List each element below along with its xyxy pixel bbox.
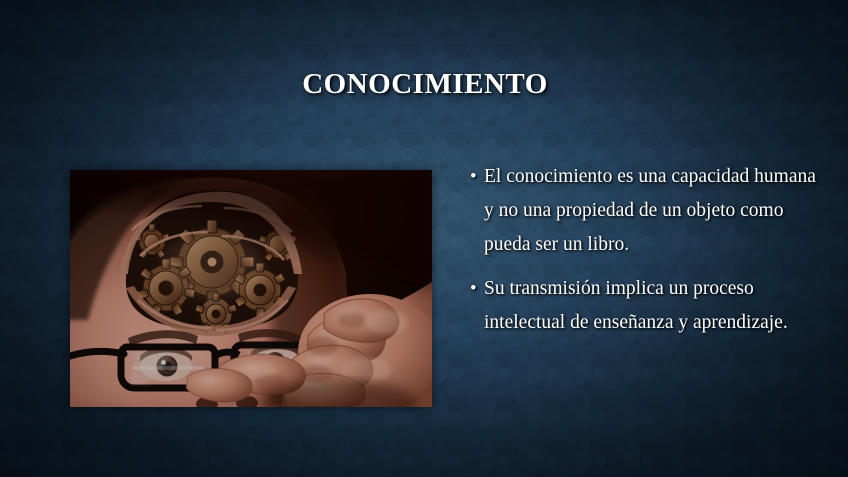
gears-brain-photo-illustration: [70, 170, 432, 407]
bullet-item-1: • El conocimiento es una capacidad human…: [470, 160, 822, 262]
bullet-marker-icon: •: [470, 160, 484, 194]
bullet-item-2: • Su transmisión implica un proceso inte…: [470, 272, 822, 340]
slide-title: CONOCIMIENTO: [104, 62, 746, 106]
bullet-text-2: Su transmisión implica un proceso intele…: [484, 272, 822, 340]
bullet-list: • El conocimiento es una capacidad human…: [470, 160, 822, 340]
bullet-marker-icon: •: [470, 272, 484, 306]
bullet-text-1: El conocimiento es una capacidad humana …: [484, 160, 822, 262]
slide: CONOCIMIENTO: [0, 0, 848, 477]
slide-image: [70, 170, 432, 407]
